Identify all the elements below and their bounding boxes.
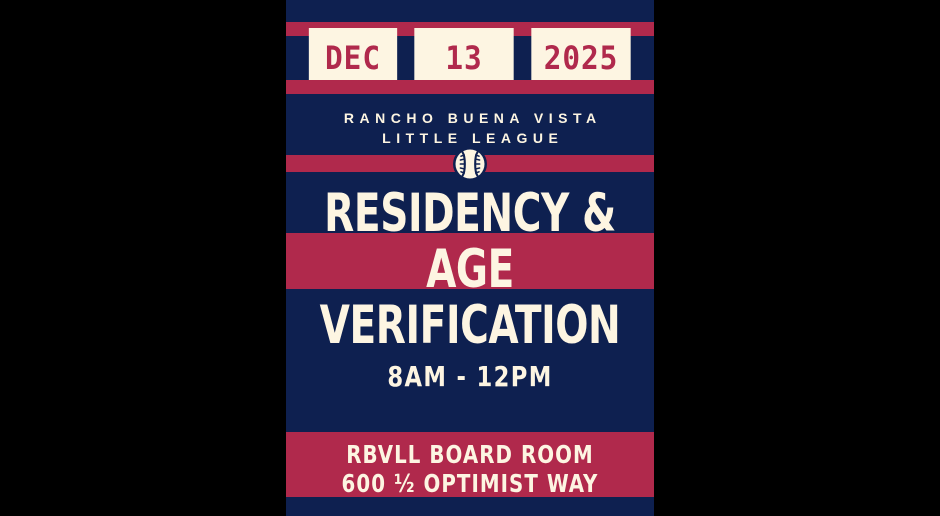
date-year-box: 2025 — [531, 28, 630, 88]
league-title-line-1: RANCHO BUENA VISTA — [286, 108, 654, 128]
headline-line-1: RESIDENCY & — [319, 186, 621, 242]
league-title: RANCHO BUENA VISTA LITTLE LEAGUE — [286, 108, 654, 148]
league-title-line-2: LITTLE LEAGUE — [286, 128, 654, 148]
date-banner: DEC 13 2025 — [286, 28, 654, 88]
screenshot-canvas: DEC 13 2025 RANCHO BUENA VISTA LITTLE LE… — [0, 0, 940, 516]
date-day-box: 13 — [414, 28, 513, 88]
decorative-stripe-under-date — [286, 80, 654, 94]
location-line-1: RBVLL BOARD ROOM — [308, 440, 632, 469]
headline-line-2: AGE — [319, 242, 621, 298]
event-location: RBVLL BOARD ROOM 600 ½ OPTIMIST WAY — [286, 440, 654, 498]
baseball-icon — [452, 146, 488, 182]
date-month-box: DEC — [309, 28, 397, 88]
headline-line-3: VERIFICATION — [319, 298, 621, 354]
event-flyer: DEC 13 2025 RANCHO BUENA VISTA LITTLE LE… — [286, 0, 654, 516]
event-time: 8AM - 12PM — [304, 360, 635, 394]
location-line-2: 600 ½ OPTIMIST WAY — [308, 469, 632, 498]
headline: RESIDENCY & AGE VERIFICATION — [286, 186, 654, 354]
